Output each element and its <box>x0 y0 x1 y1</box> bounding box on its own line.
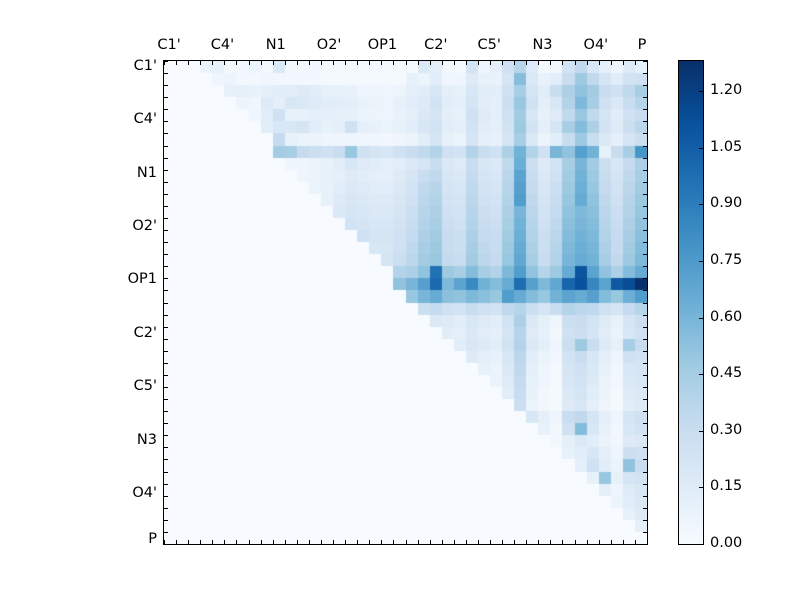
xtick-mark <box>261 61 262 65</box>
ytick-mark <box>643 435 647 436</box>
xtick-mark <box>393 540 394 544</box>
xtick-mark <box>273 540 274 544</box>
ytick-mark <box>164 315 168 316</box>
ytick-mark <box>643 290 647 291</box>
xaxis-label-C4p: C4' <box>211 38 234 53</box>
xtick-mark <box>212 61 213 65</box>
xtick-mark <box>249 61 250 65</box>
colorbar-tick-label: 1.20 <box>710 83 742 98</box>
ytick-mark <box>643 97 647 98</box>
ytick-mark <box>164 242 168 243</box>
xtick-mark <box>309 61 310 65</box>
yaxis-label-C5p: C5' <box>101 379 157 394</box>
xtick-mark <box>635 540 636 544</box>
ytick-mark <box>643 339 647 340</box>
xtick-mark <box>406 61 407 65</box>
xtick-mark <box>635 61 636 65</box>
ytick-mark <box>643 423 647 424</box>
xtick-mark <box>599 61 600 65</box>
xtick-mark <box>309 540 310 544</box>
ytick-mark <box>164 266 168 267</box>
yaxis-label-C1p: C1' <box>101 59 157 74</box>
ytick-mark <box>643 459 647 460</box>
xaxis-label-N1: N1 <box>266 38 286 53</box>
xtick-mark <box>285 61 286 65</box>
colorbar-tick-mark <box>699 431 703 432</box>
ytick-mark <box>164 230 168 231</box>
ytick-mark <box>643 484 647 485</box>
ytick-mark <box>164 182 168 183</box>
ytick-mark <box>643 266 647 267</box>
xtick-mark <box>526 540 527 544</box>
ytick-mark <box>164 351 168 352</box>
xtick-mark <box>466 61 467 65</box>
xtick-mark <box>393 61 394 65</box>
ytick-mark <box>643 399 647 400</box>
ytick-mark <box>643 508 647 509</box>
ytick-mark <box>164 109 168 110</box>
colorbar-tick-mark <box>699 261 703 262</box>
xtick-mark <box>502 540 503 544</box>
yaxis-label-N1: N1 <box>101 166 157 181</box>
ytick-mark <box>164 133 168 134</box>
ytick-mark <box>643 351 647 352</box>
xtick-mark <box>575 540 576 544</box>
colorbar-tick-label: 0.90 <box>710 196 742 211</box>
xtick-mark <box>381 540 382 544</box>
ytick-mark <box>643 133 647 134</box>
ytick-mark <box>643 303 647 304</box>
ytick-mark <box>164 194 168 195</box>
colorbar-tick-label: 0.60 <box>710 309 742 324</box>
xtick-mark <box>442 61 443 65</box>
colorbar-tick-mark <box>699 544 703 545</box>
xaxis-label-OP1: OP1 <box>368 38 397 53</box>
colorbar-tick-mark <box>699 374 703 375</box>
xtick-mark <box>273 61 274 65</box>
ytick-mark <box>643 170 647 171</box>
xtick-mark <box>538 61 539 65</box>
ytick-mark <box>643 520 647 521</box>
xtick-mark <box>514 61 515 65</box>
ytick-mark <box>164 254 168 255</box>
xtick-mark <box>466 540 467 544</box>
xtick-mark <box>454 540 455 544</box>
yaxis-label-P: P <box>101 532 157 547</box>
xtick-mark <box>176 540 177 544</box>
xtick-mark <box>212 540 213 544</box>
ytick-mark <box>643 387 647 388</box>
yaxis-label-C4p: C4' <box>101 112 157 127</box>
ytick-mark <box>643 73 647 74</box>
colorbar-tick-mark <box>699 487 703 488</box>
xtick-mark <box>575 61 576 65</box>
ytick-mark <box>643 158 647 159</box>
yaxis-label-OP1: OP1 <box>101 272 157 287</box>
ytick-mark <box>164 158 168 159</box>
ytick-mark <box>164 544 168 545</box>
xtick-mark <box>176 61 177 65</box>
ytick-mark <box>164 387 168 388</box>
xtick-mark <box>550 61 551 65</box>
xtick-mark <box>550 540 551 544</box>
xtick-mark <box>188 61 189 65</box>
xtick-mark <box>297 61 298 65</box>
xtick-mark <box>261 540 262 544</box>
ytick-mark <box>643 121 647 122</box>
ytick-mark <box>164 121 168 122</box>
xtick-mark <box>587 61 588 65</box>
xtick-mark <box>490 61 491 65</box>
ytick-mark <box>164 532 168 533</box>
xtick-mark <box>430 61 431 65</box>
ytick-mark <box>643 85 647 86</box>
ytick-mark <box>164 327 168 328</box>
xtick-mark <box>490 540 491 544</box>
heatmap-axes <box>163 60 648 545</box>
xtick-mark <box>526 61 527 65</box>
ytick-mark <box>164 459 168 460</box>
xaxis-label-O2p: O2' <box>317 38 342 53</box>
ytick-mark <box>643 242 647 243</box>
xtick-mark <box>562 540 563 544</box>
colorbar-tick-mark <box>699 91 703 92</box>
ytick-mark <box>643 61 647 62</box>
xtick-mark <box>623 540 624 544</box>
ytick-mark <box>643 218 647 219</box>
yaxis-label-C2p: C2' <box>101 326 157 341</box>
xtick-mark <box>249 540 250 544</box>
xtick-mark <box>321 61 322 65</box>
ytick-mark <box>164 85 168 86</box>
xtick-mark <box>454 61 455 65</box>
ytick-mark <box>643 496 647 497</box>
xtick-mark <box>333 540 334 544</box>
xtick-mark <box>224 540 225 544</box>
ytick-mark <box>643 315 647 316</box>
colorbar-tick-label: 1.05 <box>710 140 742 155</box>
ytick-mark <box>643 375 647 376</box>
yaxis-label-O2p: O2' <box>101 219 157 234</box>
xaxis-label-O4p: O4' <box>584 38 609 53</box>
ytick-mark <box>643 532 647 533</box>
ytick-mark <box>164 520 168 521</box>
ytick-mark <box>164 363 168 364</box>
ytick-mark <box>643 206 647 207</box>
ytick-mark <box>643 254 647 255</box>
yaxis-label-O4p: O4' <box>101 486 157 501</box>
ytick-mark <box>164 447 168 448</box>
xtick-mark <box>333 61 334 65</box>
ytick-mark <box>164 496 168 497</box>
ytick-mark <box>164 146 168 147</box>
ytick-mark <box>164 170 168 171</box>
ytick-mark <box>164 206 168 207</box>
xtick-mark <box>285 540 286 544</box>
colorbar-gradient <box>679 61 703 544</box>
xtick-mark <box>321 540 322 544</box>
xtick-mark <box>418 61 419 65</box>
ytick-mark <box>164 411 168 412</box>
ytick-mark <box>164 375 168 376</box>
ytick-mark <box>164 278 168 279</box>
xaxis-label-P: P <box>638 38 647 53</box>
ytick-mark <box>643 278 647 279</box>
xtick-mark <box>647 61 648 65</box>
xtick-mark <box>502 61 503 65</box>
xtick-mark <box>611 61 612 65</box>
xtick-mark <box>430 540 431 544</box>
xtick-mark <box>599 540 600 544</box>
ytick-mark <box>164 399 168 400</box>
ytick-mark <box>164 303 168 304</box>
xtick-mark <box>236 540 237 544</box>
heatmap-image <box>164 61 647 544</box>
ytick-mark <box>643 411 647 412</box>
ytick-mark <box>643 544 647 545</box>
xtick-mark <box>406 540 407 544</box>
xtick-mark <box>478 61 479 65</box>
ytick-mark <box>643 327 647 328</box>
xtick-mark <box>647 540 648 544</box>
xtick-mark <box>442 540 443 544</box>
colorbar-tick-mark <box>699 204 703 205</box>
ytick-mark <box>164 508 168 509</box>
colorbar-tick-label: 0.00 <box>710 536 742 551</box>
ytick-mark <box>164 97 168 98</box>
xtick-mark <box>587 540 588 544</box>
ytick-mark <box>643 230 647 231</box>
ytick-mark <box>643 194 647 195</box>
ytick-mark <box>643 109 647 110</box>
xtick-mark <box>224 61 225 65</box>
colorbar-tick-label: 0.15 <box>710 479 742 494</box>
ytick-mark <box>643 447 647 448</box>
xtick-mark <box>381 61 382 65</box>
xtick-mark <box>369 61 370 65</box>
ytick-mark <box>164 423 168 424</box>
xtick-mark <box>345 540 346 544</box>
xtick-mark <box>188 540 189 544</box>
xtick-mark <box>418 540 419 544</box>
colorbar-tick-label: 0.75 <box>710 253 742 268</box>
xaxis-label-N3: N3 <box>532 38 552 53</box>
ytick-mark <box>164 290 168 291</box>
xtick-mark <box>514 540 515 544</box>
xtick-mark <box>611 540 612 544</box>
xtick-mark <box>369 540 370 544</box>
ytick-mark <box>164 472 168 473</box>
ytick-mark <box>164 61 168 62</box>
ytick-mark <box>164 484 168 485</box>
xtick-mark <box>236 61 237 65</box>
colorbar-tick-mark <box>699 148 703 149</box>
colorbar-tick-mark <box>699 318 703 319</box>
ytick-mark <box>164 339 168 340</box>
xtick-mark <box>478 540 479 544</box>
xtick-mark <box>357 540 358 544</box>
ytick-mark <box>164 435 168 436</box>
xtick-mark <box>562 61 563 65</box>
ytick-mark <box>643 363 647 364</box>
ytick-mark <box>164 218 168 219</box>
xtick-mark <box>200 61 201 65</box>
yaxis-label-N3: N3 <box>101 432 157 447</box>
xaxis-label-C5p: C5' <box>477 38 500 53</box>
xtick-mark <box>538 540 539 544</box>
ytick-mark <box>164 73 168 74</box>
xaxis-label-C1p: C1' <box>157 38 180 53</box>
xtick-mark <box>623 61 624 65</box>
figure-canvas: C1'C4'N1O2'OP1C2'C5'N3O4'P C1'C4'N1O2'OP… <box>0 0 800 600</box>
colorbar <box>678 60 704 545</box>
colorbar-tick-label: 0.45 <box>710 366 742 381</box>
ytick-mark <box>643 182 647 183</box>
colorbar-tick-label: 0.30 <box>710 423 742 438</box>
xtick-mark <box>345 61 346 65</box>
ytick-mark <box>643 472 647 473</box>
xtick-mark <box>357 61 358 65</box>
xaxis-label-C2p: C2' <box>424 38 447 53</box>
xtick-mark <box>297 540 298 544</box>
xtick-mark <box>200 540 201 544</box>
ytick-mark <box>643 146 647 147</box>
